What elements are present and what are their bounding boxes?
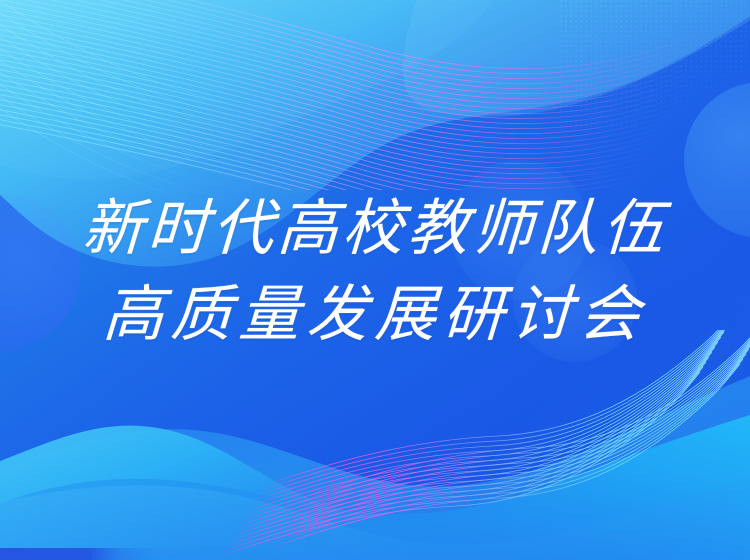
bottom-wave-c: [0, 412, 750, 560]
top-wave-shape-c: [403, 0, 750, 117]
title-line-1: 新时代高校教师队伍: [0, 186, 750, 272]
bottom-wave-a: [0, 372, 750, 560]
conference-banner: 新时代高校教师队伍 高质量发展研讨会: [0, 0, 750, 560]
banner-title: 新时代高校教师队伍 高质量发展研讨会: [0, 186, 750, 358]
bottom-wave-d: [0, 474, 750, 560]
bottom-wave-b: [0, 418, 750, 560]
bottom-dark-band: [0, 548, 300, 560]
title-line-2: 高质量发展研讨会: [0, 272, 750, 358]
top-wave-shape-b: [0, 0, 500, 179]
